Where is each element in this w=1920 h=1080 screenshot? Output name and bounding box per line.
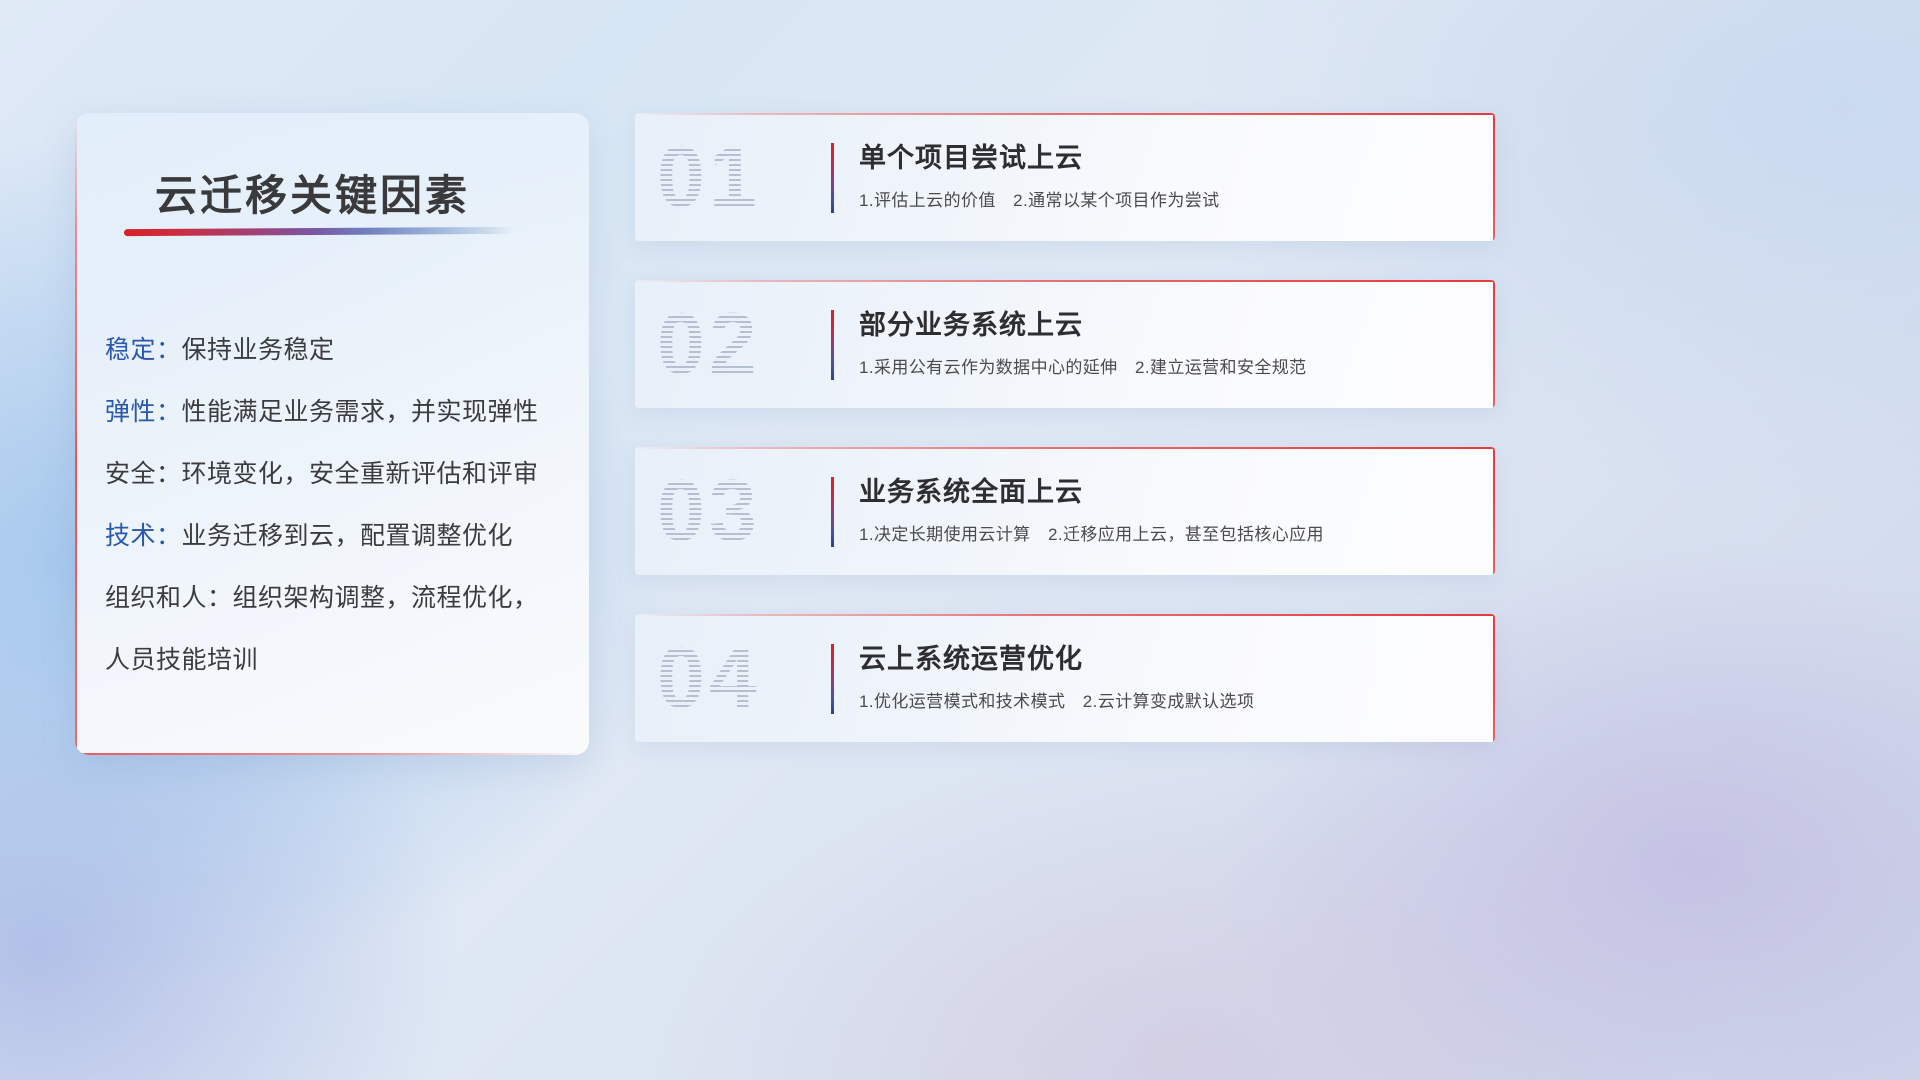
step-divider-bar (831, 143, 834, 213)
step-card[interactable]: 03 业务系统全面上云 1.决定长期使用云计算 2.迁移应用上云，甚至包括核心应… (635, 447, 1495, 575)
key-factors-panel: 云迁移关键因素 稳定：保持业务稳定 弹性：性能满足业务需求，并实现弹性 安全：环… (75, 113, 589, 755)
list-item: 安全：环境变化，安全重新评估和评审 (105, 443, 571, 505)
step-description: 1.评估上云的价值 2.通常以某个项目作为尝试 (859, 189, 1471, 213)
step-description: 1.决定长期使用云计算 2.迁移应用上云，甚至包括核心应用 (859, 523, 1471, 547)
step-card[interactable]: 04 云上系统运营优化 1.优化运营模式和技术模式 2.云计算变成默认选项 (635, 614, 1495, 742)
list-item: 组织和人：组织架构调整，流程优化， (105, 567, 571, 629)
factor-value: 人员技能培训 (105, 646, 258, 674)
list-item: 稳定：保持业务稳定 (105, 319, 571, 381)
step-content: 云上系统运营优化 1.优化运营模式和技术模式 2.云计算变成默认选项 (859, 641, 1471, 714)
step-number-watermark: 03 (657, 468, 761, 554)
title-underline-rule (124, 227, 514, 236)
step-title: 云上系统运营优化 (859, 641, 1471, 677)
page-title: 云迁移关键因素 (155, 162, 470, 223)
factor-value: 业务迁移到云，配置调整优化 (182, 522, 514, 550)
slide-canvas: 云迁移关键因素 稳定：保持业务稳定 弹性：性能满足业务需求，并实现弹性 安全：环… (0, 0, 1920, 1080)
step-content: 单个项目尝试上云 1.评估上云的价值 2.通常以某个项目作为尝试 (859, 140, 1471, 213)
factor-value: 保持业务稳定 (182, 336, 335, 364)
factor-label: 弹性： (105, 398, 182, 426)
factor-value: 组织架构调整，流程优化， (233, 584, 539, 612)
factor-label: 技术： (105, 522, 182, 550)
step-description: 1.采用公有云作为数据中心的延伸 2.建立运营和安全规范 (859, 356, 1471, 380)
step-divider-bar (831, 644, 834, 714)
list-item: 弹性：性能满足业务需求，并实现弹性 (105, 381, 571, 443)
step-divider-bar (831, 477, 834, 547)
step-number-watermark: 02 (657, 301, 761, 387)
step-card[interactable]: 01 单个项目尝试上云 1.评估上云的价值 2.通常以某个项目作为尝试 (635, 113, 1495, 241)
step-title: 单个项目尝试上云 (859, 140, 1471, 176)
migration-steps-list: 01 单个项目尝试上云 1.评估上云的价值 2.通常以某个项目作为尝试 02 部… (635, 113, 1495, 781)
factor-label: 安全： (105, 460, 182, 488)
step-divider-bar (831, 310, 834, 380)
step-content: 业务系统全面上云 1.决定长期使用云计算 2.迁移应用上云，甚至包括核心应用 (859, 474, 1471, 547)
factor-value: 性能满足业务需求，并实现弹性 (182, 398, 539, 426)
list-item: 技术：业务迁移到云，配置调整优化 (105, 505, 571, 567)
step-number-watermark: 04 (657, 635, 761, 721)
factor-value: 环境变化，安全重新评估和评审 (182, 460, 539, 488)
list-item: 人员技能培训 (105, 629, 571, 691)
step-number-watermark: 01 (657, 134, 761, 220)
factor-list: 稳定：保持业务稳定 弹性：性能满足业务需求，并实现弹性 安全：环境变化，安全重新… (105, 319, 571, 691)
step-content: 部分业务系统上云 1.采用公有云作为数据中心的延伸 2.建立运营和安全规范 (859, 307, 1471, 380)
step-description: 1.优化运营模式和技术模式 2.云计算变成默认选项 (859, 690, 1471, 714)
step-card[interactable]: 02 部分业务系统上云 1.采用公有云作为数据中心的延伸 2.建立运营和安全规范 (635, 280, 1495, 408)
factor-label: 稳定： (105, 336, 182, 364)
step-title: 部分业务系统上云 (859, 307, 1471, 343)
factor-label: 组织和人： (105, 584, 233, 612)
step-title: 业务系统全面上云 (859, 474, 1471, 510)
